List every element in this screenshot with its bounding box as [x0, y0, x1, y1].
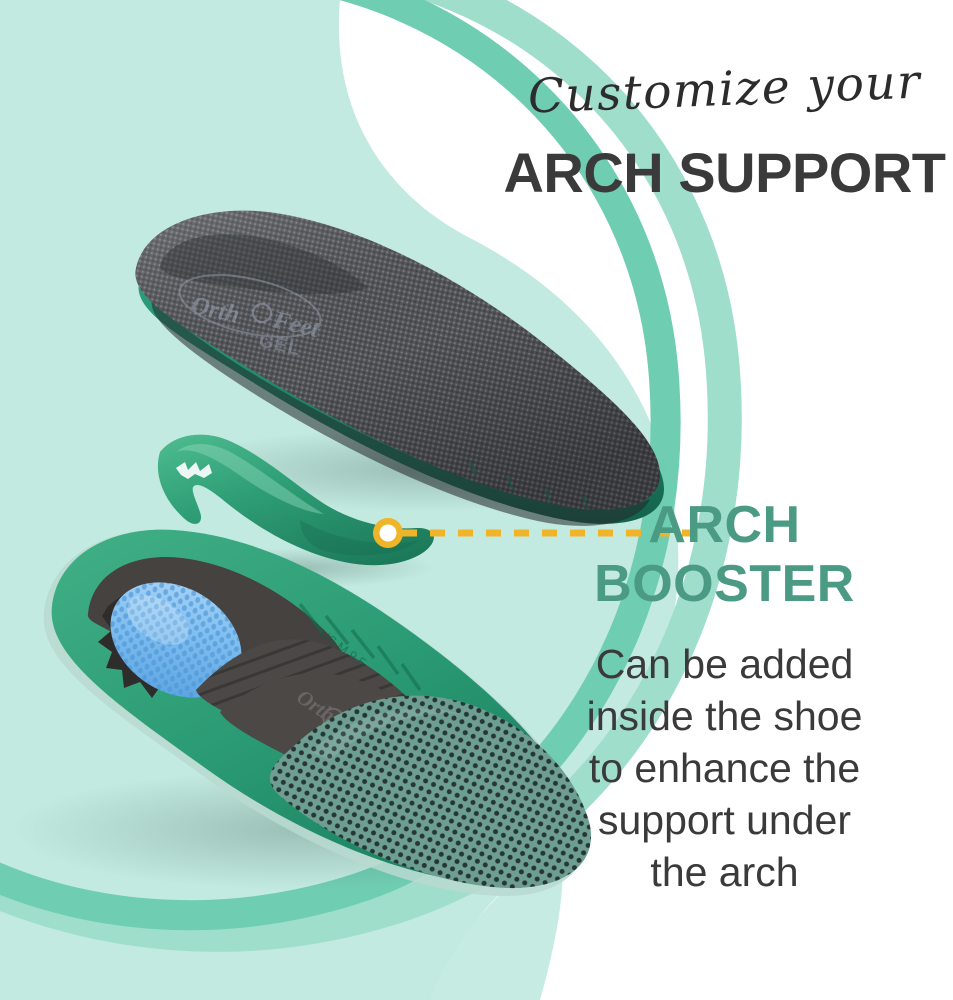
infographic-canvas: Orth Feet ® GEL	[0, 0, 953, 1000]
callout-description: Can be added inside the shoe to enhance …	[522, 638, 927, 898]
callout-body-line-2: inside the shoe	[522, 690, 927, 742]
page-title: ARCH SUPPORT	[496, 140, 953, 205]
callout-body-line-1: Can be added	[522, 638, 927, 690]
callout-body-line-5: the arch	[522, 846, 927, 898]
script-subtitle: Customize your	[495, 53, 953, 126]
callout-title-line-1: ARCH	[496, 496, 953, 555]
text-column: Customize your ARCH SUPPORT ARCH BOOSTER…	[496, 0, 953, 1000]
callout-body-line-3: to enhance the	[522, 742, 927, 794]
callout-title-line-2: BOOSTER	[496, 555, 953, 614]
callout-body-line-4: support under	[522, 794, 927, 846]
callout-title: ARCH BOOSTER	[496, 496, 953, 614]
